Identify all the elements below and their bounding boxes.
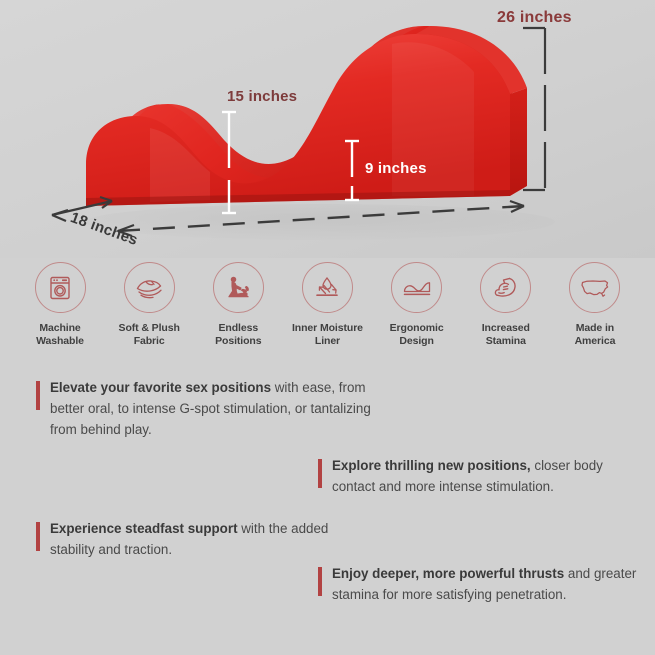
benefit-block-elevate: Elevate your favorite sex positions with… [36,378,396,440]
feature-label-line1: Machine [36,322,84,335]
feature-label: Inner Moisture Liner [292,322,363,348]
feature-circle [35,262,86,313]
feature-icon-row: Machine Washable Soft & Plush Fabric [0,262,655,362]
feature-made-in-america: Made in America [553,262,637,362]
washing-machine-icon [46,274,74,302]
chaise-right-face [510,88,527,196]
feature-inner-moisture-liner: Inner Moisture Liner [285,262,369,362]
benefit-accent-bar [318,459,322,488]
feature-circle [124,262,175,313]
benefit-text: Enjoy deeper, more powerful thrusts and … [332,564,648,606]
feature-label-line2: America [575,335,616,348]
benefit-accent-bar [36,381,40,410]
feature-circle [391,262,442,313]
benefit-bold-text: Explore thrilling new positions, [332,458,531,473]
benefit-bold-text: Elevate your favorite sex positions [50,380,271,395]
dimension-label-total-height: 26 inches [497,9,572,27]
feature-label-line2: Fabric [119,335,180,348]
benefit-bold-text: Experience steadfast support [50,521,238,536]
feature-circle [569,262,620,313]
feature-label-line2: Design [390,335,444,348]
feature-label-line1: Soft & Plush [119,322,180,335]
feature-soft-plush-fabric: Soft & Plush Fabric [107,262,191,362]
benefit-accent-bar [36,522,40,551]
feature-increased-stamina: Increased Stamina [464,262,548,362]
feature-label: Ergonomic Design [390,322,444,348]
benefit-text: Elevate your favorite sex positions with… [50,378,396,440]
feature-label-line1: Made in [575,322,616,335]
benefit-block-enjoy: Enjoy deeper, more powerful thrusts and … [318,564,648,606]
feature-label-line2: Positions [215,335,261,348]
plush-fabric-icon [134,274,164,302]
product-hero-image: 26 inches 15 inches 9 inches 18 inches [0,0,655,258]
benefit-block-explore: Explore thrilling new positions, closer … [318,456,648,498]
benefit-text: Experience steadfast support with the ad… [50,519,376,561]
feature-ergonomic-design: Ergonomic Design [375,262,459,362]
flexed-bicep-icon [491,274,521,302]
feature-endless-positions: Endless Positions [196,262,280,362]
feature-label-line1: Ergonomic [390,322,444,335]
feature-label: Increased Stamina [482,322,530,348]
feature-label-line2: Stamina [482,335,530,348]
feature-label: Soft & Plush Fabric [119,322,180,348]
feature-label-line1: Inner Moisture [292,322,363,335]
water-repellent-icon [312,274,342,302]
feature-circle [302,262,353,313]
feature-circle [213,262,264,313]
benefit-accent-bar [318,567,322,596]
dimension-label-seat-height: 9 inches [365,160,427,177]
ergonomic-curve-icon [401,274,433,302]
usa-map-icon [579,275,611,301]
feature-circle [480,262,531,313]
feature-label-line1: Increased [482,322,530,335]
benefit-block-experience: Experience steadfast support with the ad… [36,519,376,561]
feature-machine-washable: Machine Washable [18,262,102,362]
dimension-label-backrest-height: 15 inches [227,88,297,105]
feature-label-line2: Liner [292,335,363,348]
benefit-bold-text: Enjoy deeper, more powerful thrusts [332,566,564,581]
feature-label: Made in America [575,322,616,348]
feature-label: Machine Washable [36,322,84,348]
benefit-text: Explore thrilling new positions, closer … [332,456,648,498]
feature-label-line1: Endless [215,322,261,335]
feature-label-line2: Washable [36,335,84,348]
couple-position-icon [223,274,253,302]
feature-label: Endless Positions [215,322,261,348]
